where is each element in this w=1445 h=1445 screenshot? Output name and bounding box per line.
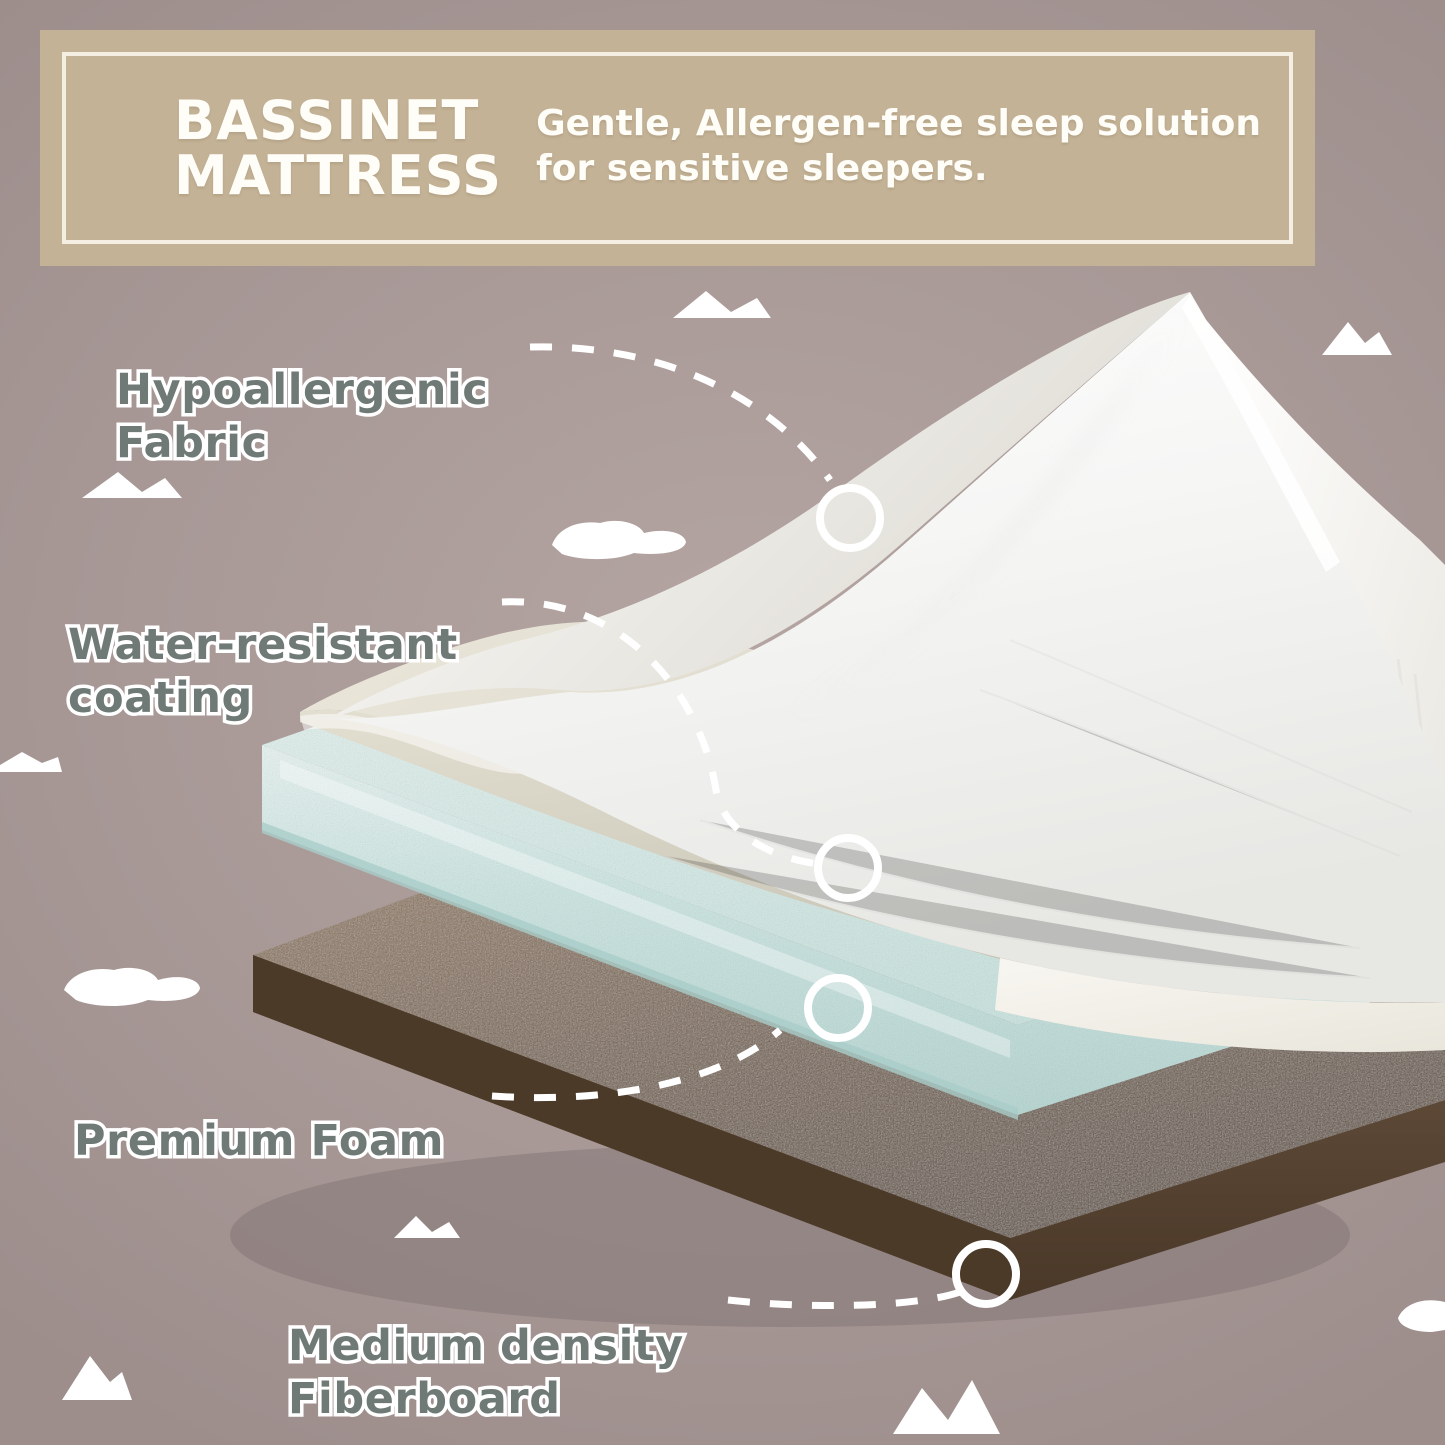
header-banner-frame: BASSINET MATTRESS Gentle, Allergen-free … [62,52,1293,244]
callout-label-medium-density-fiberboard: Medium density Fiberboard [288,1268,684,1425]
infographic-canvas: BASSINET MATTRESS Gentle, Allergen-free … [0,0,1445,1445]
callout-label-hypoallergenic-fabric: Hypoallergenic Fabric [116,312,488,469]
callout-label-water-resistant-coating: Water-resistant coating [68,567,458,724]
mountain-icon [673,291,771,318]
mountain-icon [893,1380,1000,1434]
header-banner: BASSINET MATTRESS Gentle, Allergen-free … [40,30,1315,266]
callout-label-premium-foam: Premium Foam [74,1063,444,1168]
cloud-icon [64,968,200,1006]
product-subtitle: Gentle, Allergen-free sleep solution for… [536,101,1261,191]
cloud-icon [1398,1300,1445,1332]
cloud-icon [552,521,686,559]
product-title: BASSINET MATTRESS [174,93,502,203]
callout-label-text: Medium density Fiberboard [288,1321,684,1423]
callout-label-text: Premium Foam [74,1116,444,1166]
mountain-icon [1322,322,1392,355]
mountain-icon [0,752,62,772]
mountain-icon [62,1356,132,1400]
mountain-icon [82,472,182,498]
callout-label-text: Hypoallergenic Fabric [116,365,488,467]
connector-hypoallergenic-fabric [530,347,830,480]
callout-label-text: Water-resistant coating [68,620,458,722]
